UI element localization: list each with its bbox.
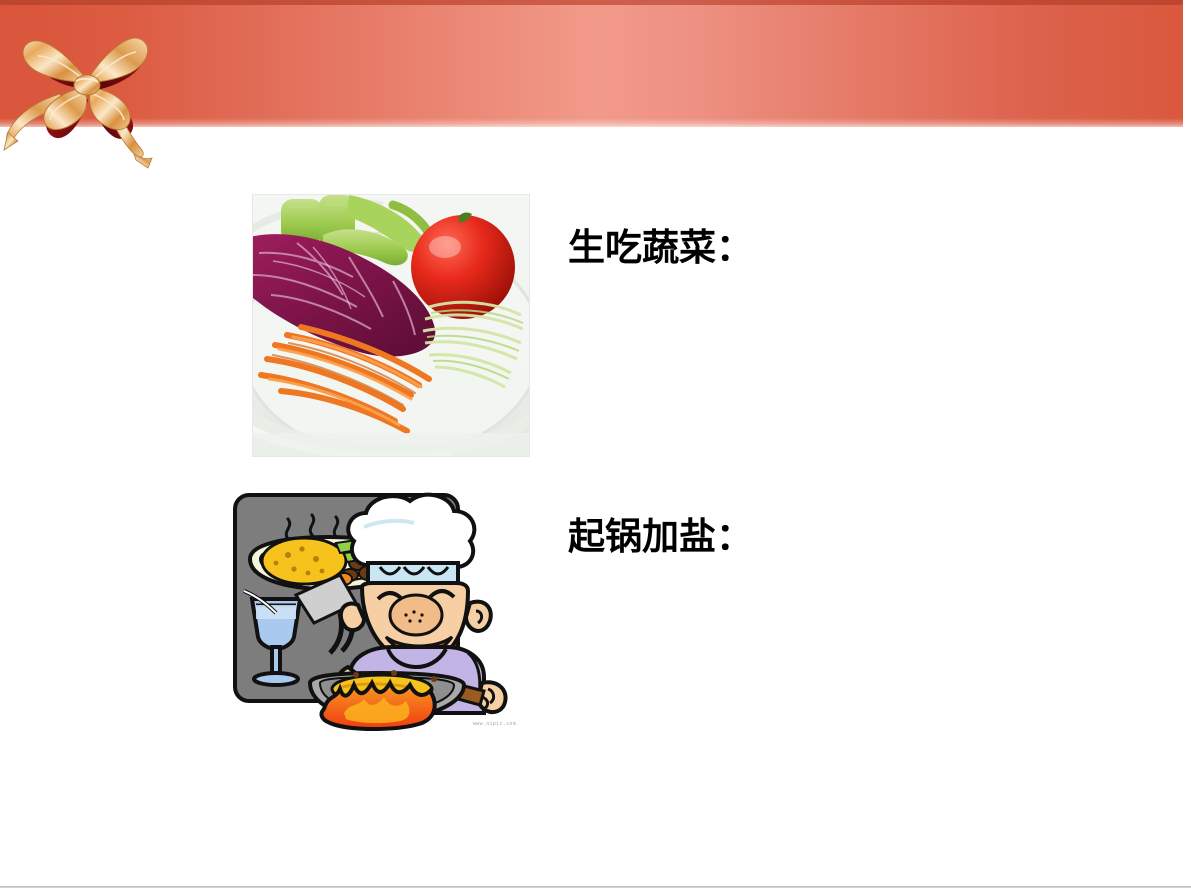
image-watermark: www.nipic.com [473,721,516,727]
header-right-margin [1183,0,1191,127]
slide-canvas: 生吃蔬菜： [0,0,1191,893]
caption-raw-vegetables: 生吃蔬菜： [568,229,753,266]
caption-add-salt-at-end: 起锅加盐： [568,518,753,555]
salad-photo [252,194,530,457]
footer-divider [0,886,1191,888]
chef-cooking-cartoon [232,487,522,735]
gift-ribbon-bow-icon [0,8,195,168]
header-top-edge [0,0,1191,5]
